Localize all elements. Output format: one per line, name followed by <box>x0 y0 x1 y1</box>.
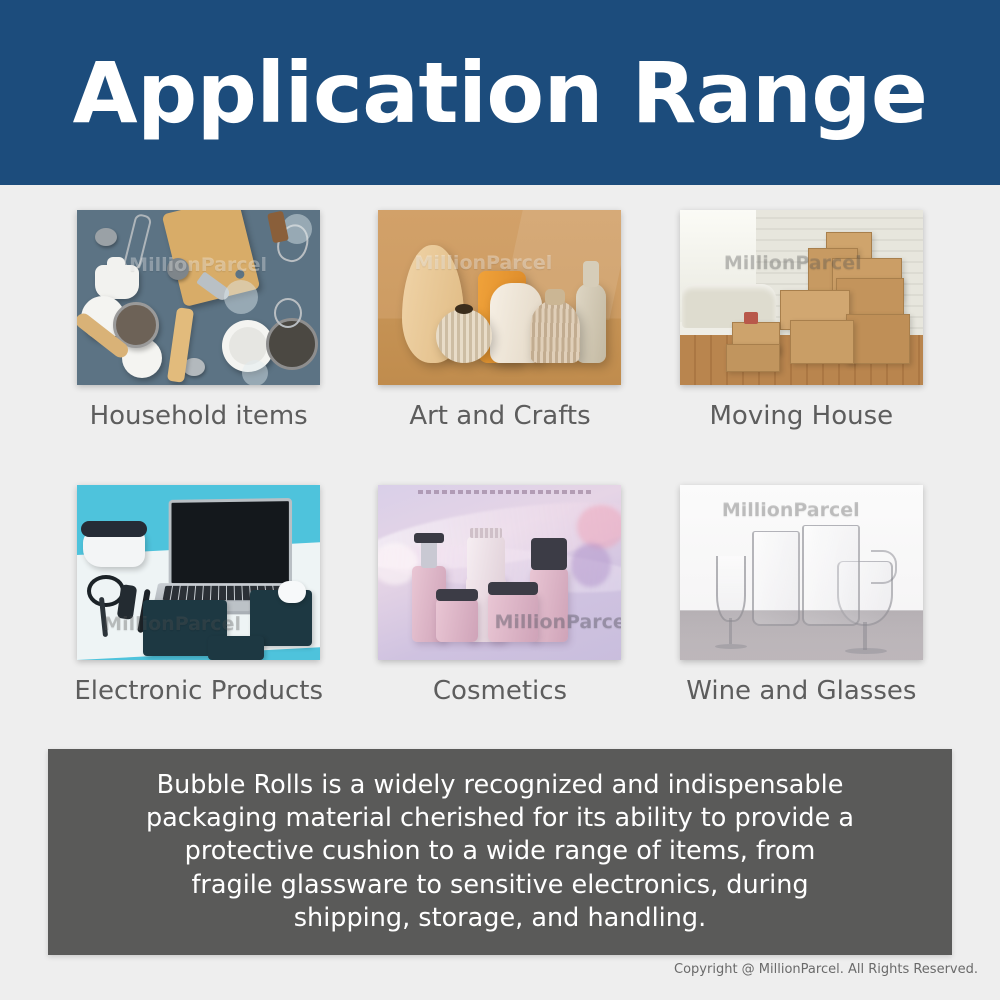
card-label-cosmetics: Cosmetics <box>433 676 567 706</box>
box-shape <box>726 344 780 372</box>
box-shape <box>846 314 910 364</box>
wooden-fork-shape <box>267 211 289 244</box>
teapot-shape <box>95 265 139 299</box>
application-range-page: Application Range <box>0 0 1000 1000</box>
thumbnail-moving-house[interactable]: MillionParcel <box>680 210 923 385</box>
cosmetics-image: MillionParcel <box>378 485 621 660</box>
card-label-art-and-crafts: Art and Crafts <box>409 401 590 431</box>
box-shape <box>790 320 854 364</box>
glass-shape <box>224 280 258 314</box>
page-header: Application Range <box>0 0 1000 185</box>
wine-and-glasses-image: MillionParcel <box>680 485 923 660</box>
spoon-shape <box>95 228 117 246</box>
card-moving-house[interactable]: MillionParcel Moving House <box>651 210 952 485</box>
electronic-products-image: MillionParcel <box>77 485 320 660</box>
laptop-screen-shape <box>169 498 292 588</box>
application-grid: MillionParcel Household items MillionPar… <box>48 210 952 760</box>
decorative-text-line <box>418 490 593 494</box>
card-electronic-products[interactable]: MillionParcel Electronic Products <box>48 485 349 760</box>
cream-jar-shape <box>436 598 478 642</box>
mug-handle-shape <box>871 550 897 584</box>
thumbnail-wine-and-glasses[interactable]: MillionParcel <box>680 485 923 660</box>
ladle-shape <box>167 258 189 280</box>
watermark: MillionParcel <box>722 499 860 521</box>
cream-jar-shape <box>488 592 538 642</box>
whisk-shape <box>274 298 302 328</box>
page-title: Application Range <box>73 51 928 135</box>
thumbnail-household-items[interactable]: MillionParcel <box>77 210 320 385</box>
earbuds-case-shape <box>278 581 306 603</box>
card-household-items[interactable]: MillionParcel Household items <box>48 210 349 485</box>
tablet-shape <box>208 636 264 660</box>
moving-house-image: MillionParcel <box>680 210 923 385</box>
thumbnail-art-and-crafts[interactable]: MillionParcel <box>378 210 621 385</box>
description-text: Bubble Rolls is a widely recognized and … <box>145 769 855 935</box>
art-and-crafts-image: MillionParcel <box>378 210 621 385</box>
card-label-moving-house: Moving House <box>709 401 893 431</box>
vase-shape <box>530 301 580 363</box>
vase-shape <box>576 283 606 363</box>
card-art-and-crafts[interactable]: MillionParcel Art and Crafts <box>349 210 650 485</box>
tape-roll-shape <box>744 312 758 324</box>
card-label-household-items: Household items <box>90 401 308 431</box>
reflection-surface <box>680 610 923 660</box>
peeler-shape <box>123 213 153 271</box>
copyright-notice: Copyright @ MillionParcel. All Rights Re… <box>674 962 978 977</box>
card-wine-and-glasses[interactable]: MillionParcel Wine and Glasses <box>651 485 952 760</box>
card-cosmetics[interactable]: MillionParcel Cosmetics <box>349 485 650 760</box>
thumbnail-cosmetics[interactable]: MillionParcel <box>378 485 621 660</box>
card-label-wine-and-glasses: Wine and Glasses <box>686 676 916 706</box>
card-label-electronic-products: Electronic Products <box>74 676 323 706</box>
household-items-image: MillionParcel <box>77 210 320 385</box>
thumbnail-electronic-products[interactable]: MillionParcel <box>77 485 320 660</box>
flower-shape <box>577 505 621 549</box>
glass-shape <box>242 360 268 385</box>
vr-headset-shape <box>83 529 145 567</box>
description-panel: Bubble Rolls is a widely recognized and … <box>48 749 952 955</box>
